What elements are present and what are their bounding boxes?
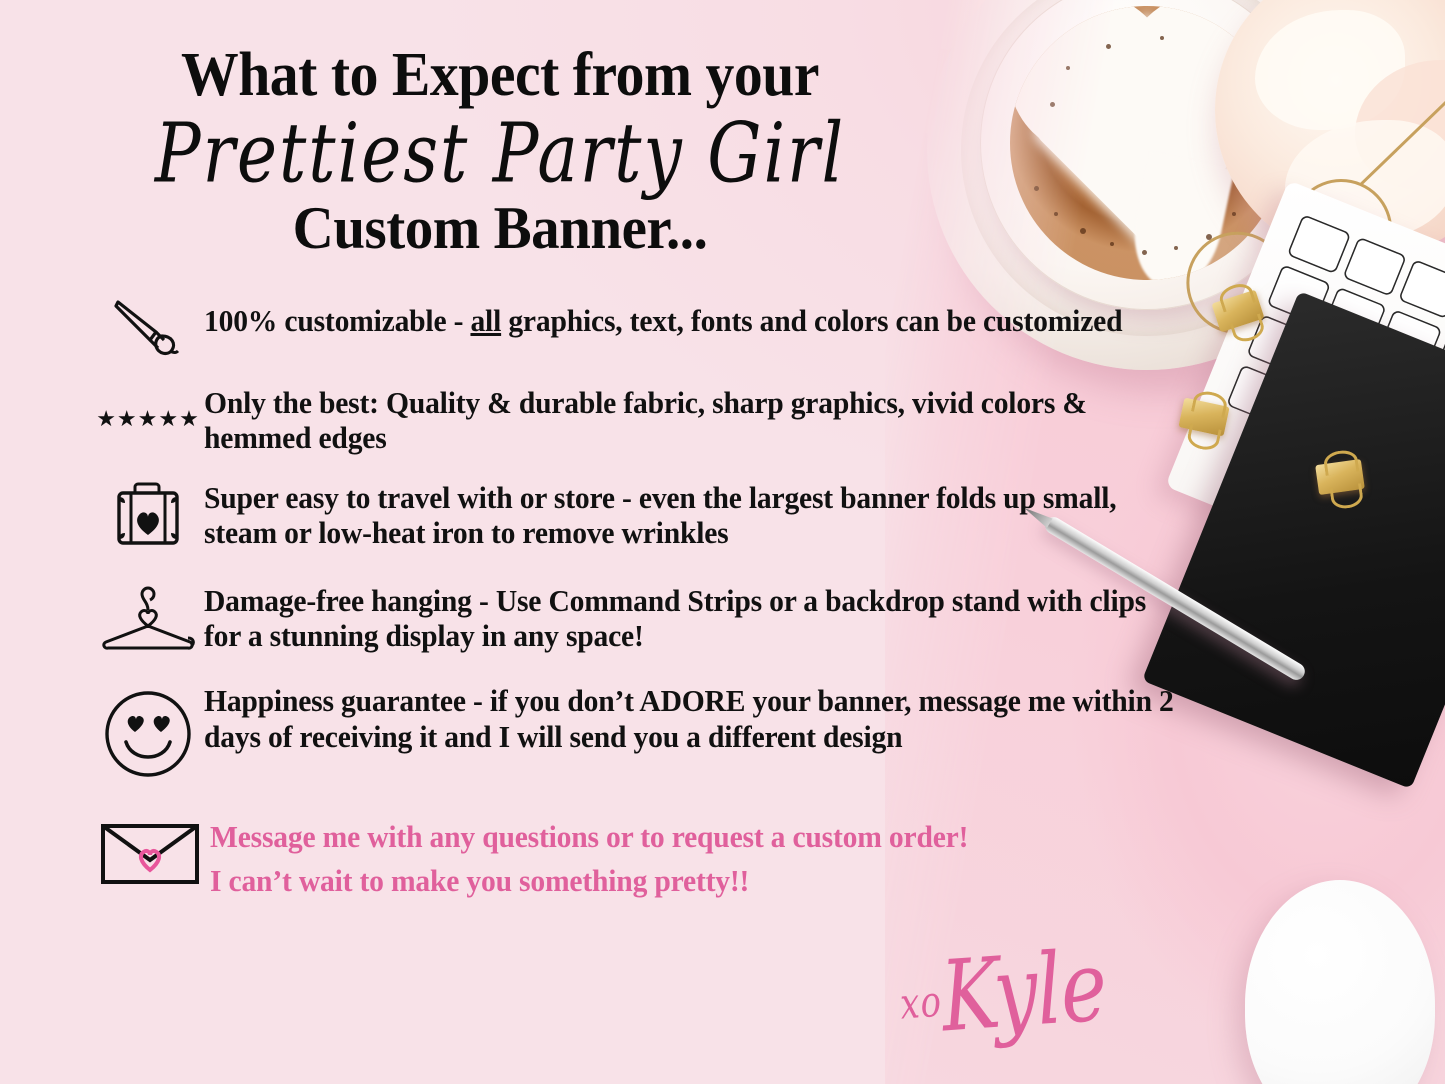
hanger-heart-icon — [92, 578, 204, 654]
list-item-text: Damage-free hanging - Use Command Strips… — [204, 584, 1177, 655]
bullet-1-emphasis: all — [470, 304, 501, 338]
list-item-text: Happiness guarantee - if you don’t ADORE… — [204, 684, 1177, 755]
feature-list: 100% customizable - all graphics, text, … — [92, 292, 1207, 921]
signature-xo: xo — [899, 977, 944, 1030]
heading-line-3: Custom Banner... — [25, 198, 975, 259]
list-item: ★★★★★ Only the best: Quality & durable f… — [92, 378, 1207, 457]
binder-clip-1 — [1211, 290, 1264, 333]
list-item-text: Super easy to travel with or store - eve… — [204, 481, 1177, 552]
heading-line-1: What to Expect from your — [35, 44, 965, 107]
five-stars-icon: ★★★★★ — [92, 378, 204, 430]
bullet-1-pre: 100% customizable - — [204, 304, 470, 338]
list-item: Happiness guarantee - if you don’t ADORE… — [92, 684, 1207, 780]
list-item-text: 100% customizable - all graphics, text, … — [204, 304, 1177, 339]
heading-line-2-script: Prettiest Party Girl — [15, 112, 985, 195]
list-item: Damage-free hanging - Use Command Strips… — [92, 578, 1207, 655]
banner-canvas: What to Expect from your Prettiest Party… — [0, 0, 1445, 1084]
paintbrush-icon — [92, 292, 204, 358]
signature-name: Kyle — [938, 931, 1110, 1055]
envelope-heart-icon — [92, 814, 210, 888]
list-item-text: Message me with any questions or to requ… — [210, 816, 1177, 903]
suitcase-heart-icon — [92, 475, 204, 551]
signature: xoKyle — [897, 938, 1109, 1050]
list-item: Message me with any questions or to requ… — [92, 814, 1207, 903]
list-item-text: Only the best: Quality & durable fabric,… — [204, 386, 1177, 457]
binder-clip-3 — [1315, 459, 1365, 495]
stars-glyphs: ★★★★★ — [96, 382, 200, 430]
list-item: 100% customizable - all graphics, text, … — [92, 292, 1207, 358]
closing-line-2: I can’t wait to make you something prett… — [210, 860, 1177, 903]
closing-line-1: Message me with any questions or to requ… — [210, 816, 1177, 859]
list-item: Super easy to travel with or store - eve… — [92, 475, 1207, 552]
heart-eyes-smiley-icon — [92, 684, 204, 780]
bullet-1-post: graphics, text, fonts and colors can be … — [501, 304, 1122, 338]
